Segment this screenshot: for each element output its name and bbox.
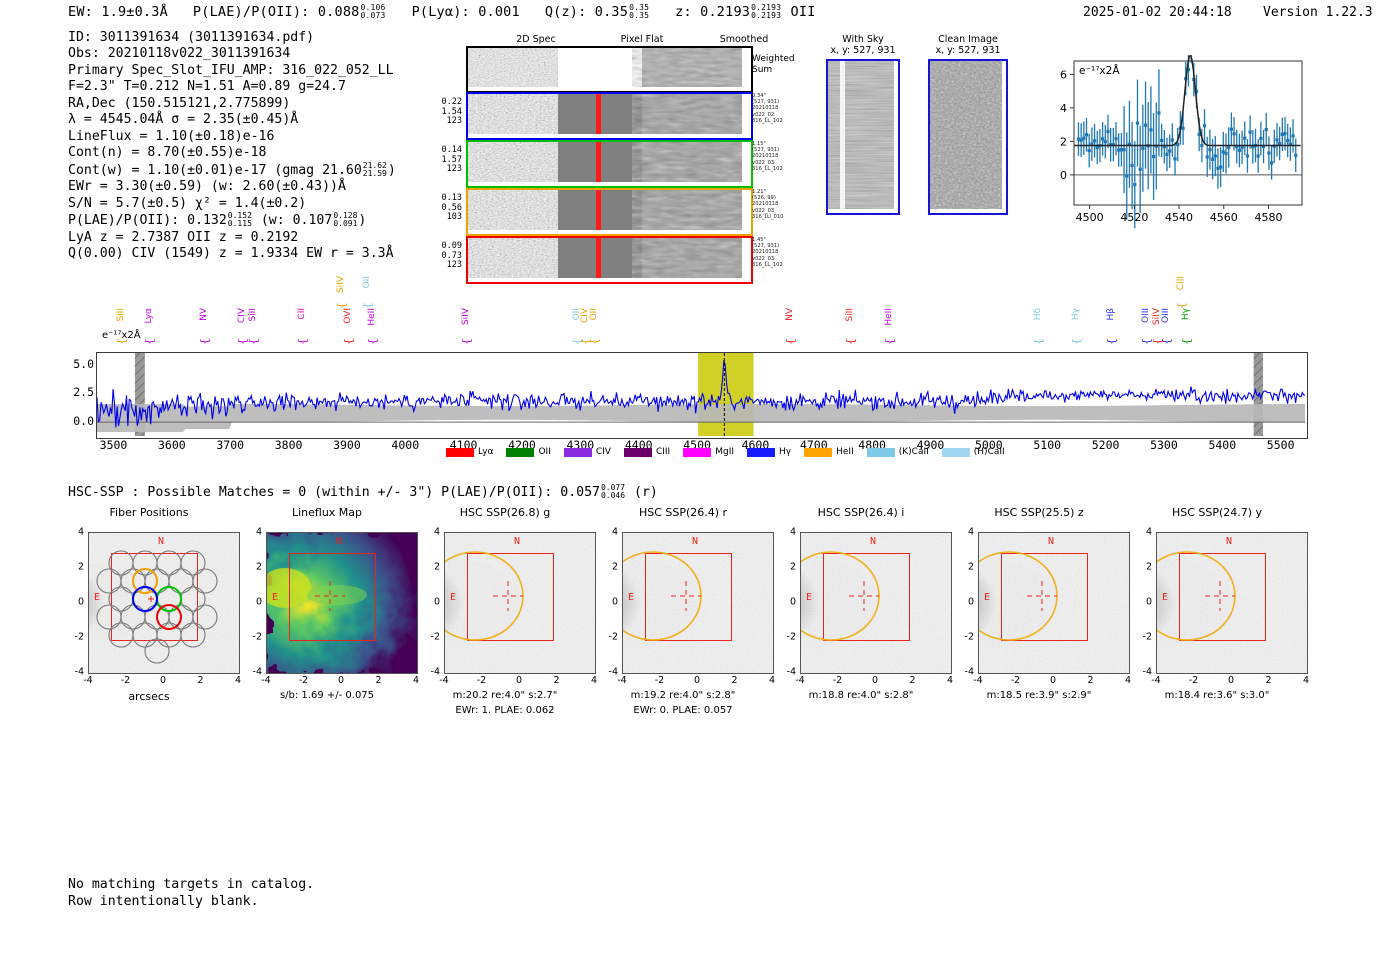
emission-line-brace: { — [588, 338, 601, 345]
timestamp: 2025-01-02 20:44:18 — [1083, 5, 1232, 20]
cutout-ytick: -4 — [958, 667, 974, 678]
svg-text:4500: 4500 — [1076, 211, 1104, 224]
plae-lo: 0.073 — [360, 12, 385, 20]
cutout-xtick: -2 — [299, 675, 308, 686]
compass-north: N — [158, 536, 164, 547]
cutout-xtick: -4 — [973, 675, 982, 686]
cutout-panel: HSC SSP(26.4) iNE-4-4-2-2002244m:18.8 re… — [772, 506, 972, 519]
cutout-xtick: -4 — [83, 675, 92, 686]
svg-text:0: 0 — [1060, 169, 1067, 182]
cutout-ytick: -4 — [246, 667, 262, 678]
z-value: 0.2193 — [700, 4, 750, 20]
cutout-title: HSC SSP(26.8) g — [416, 506, 594, 519]
cutout-xtick: 2 — [731, 675, 737, 686]
info-line-lambda: λ = 4545.04Å σ = 2.35(±0.45)Å — [68, 112, 396, 128]
info-line-id: ID: 3011391634 (3011391634.pdf) — [68, 30, 396, 46]
cutout-title: Fiber Positions — [60, 506, 238, 519]
source-ellipse — [445, 533, 595, 673]
cutout-xtick: 4 — [1303, 675, 1309, 686]
emission-line-label: HeII — [884, 308, 894, 326]
fiber-row-values: 0.221.54123 — [418, 98, 462, 127]
svg-text:4540: 4540 — [1165, 211, 1193, 224]
spectrum-unit-label: e⁻¹⁷x2Å — [102, 330, 141, 341]
cutout-ytick: 2 — [68, 562, 84, 573]
compass-north: N — [514, 536, 520, 547]
version: Version 1.22.3 — [1263, 5, 1373, 20]
line-plot-svg: 450045204540456045800246e⁻¹⁷x2Å — [1040, 55, 1308, 231]
emission-line-label: Hγ — [1181, 308, 1191, 320]
cutout-ytick: 0 — [246, 597, 262, 608]
qz-label: Q(z): — [545, 4, 587, 20]
legend-label: Lyα — [478, 447, 493, 457]
compass-east: E — [272, 592, 278, 603]
spectrum-xtick: 5200 — [1092, 438, 1120, 452]
legend-item: OII — [506, 447, 550, 457]
spectrum-ytick: 5.0 — [73, 357, 94, 371]
cutout-ytick: 0 — [958, 597, 974, 608]
footer-message: No matching targets in catalog. Row inte… — [68, 877, 314, 910]
plae-label: P(LAE)/P(OII): — [193, 4, 310, 20]
emission-line-brace: { — [883, 338, 896, 345]
compass-east: E — [806, 592, 812, 603]
legend-label: OII — [538, 447, 550, 457]
cutout-ytick: -4 — [1136, 667, 1152, 678]
cutout-xtick: -4 — [795, 675, 804, 686]
cutout-ytick: 0 — [602, 597, 618, 608]
cutout-ytick: -2 — [246, 632, 262, 643]
cutout-caption-1: m:18.8 re:4.0" s:2.8" — [772, 690, 950, 701]
cutout-ytick: 4 — [602, 527, 618, 538]
cutout-title: HSC SSP(25.5) z — [950, 506, 1128, 519]
cutout-xtick: -4 — [261, 675, 270, 686]
cutout-xtick: -4 — [617, 675, 626, 686]
info-line-lineflux: LineFlux = 1.10(±0.18)e-16 — [68, 129, 396, 145]
emission-line-brace: { — [1032, 338, 1045, 345]
svg-text:6: 6 — [1060, 68, 1067, 81]
info-line-contw: Cont(w) = 1.10(±0.01)e-17 (gmag 21.6021.… — [68, 162, 396, 180]
cutout-ytick: 2 — [1136, 562, 1152, 573]
emission-line-label: Hβ — [1106, 308, 1116, 321]
emission-line-label: OIII — [1141, 308, 1151, 323]
fiber-row-metadata: 1.21"(526, 99)20210118v022_03316_LU_010 — [752, 189, 812, 220]
info-line-contn: Cont(n) = 8.70(±0.55)e-18 — [68, 145, 396, 161]
hsc-filter-tail: (r) — [634, 485, 658, 500]
emission-line-label: SiIV — [461, 308, 471, 325]
emission-line-label: CIV — [237, 308, 247, 323]
cutout-ytick: 4 — [424, 527, 440, 538]
info-plae-lo: 0.115 — [228, 220, 252, 228]
cutout-ytick: 0 — [68, 597, 84, 608]
info-line-ewr: EWr = 3.30(±0.59) (w: 2.60(±0.43))Å — [68, 179, 396, 195]
cutout-xtick: 0 — [338, 675, 344, 686]
emission-line-label: OII — [362, 276, 372, 288]
spectrum-xtick: 4000 — [391, 438, 419, 452]
emission-line-label: OVI — [343, 308, 353, 324]
svg-text:4580: 4580 — [1254, 211, 1282, 224]
source-ellipse — [979, 533, 1129, 673]
cutout-ytick: 2 — [958, 562, 974, 573]
legend-item: CIII — [624, 447, 670, 457]
weighted-sum-image — [468, 48, 747, 87]
fiber-meta-line: 316_LL_102 — [752, 262, 812, 268]
cutout-caption-2: EWr: 0. PLAE: 0.057 — [594, 705, 772, 716]
cutout-ytick: 4 — [68, 527, 84, 538]
compass-east: E — [1162, 592, 1168, 603]
info-line-radec: RA,Dec (150.515121,2.775899) — [68, 96, 396, 112]
cutout-xtick: 4 — [769, 675, 775, 686]
spectrum-xtick: 3600 — [158, 438, 186, 452]
cutout-ytick: -2 — [780, 632, 796, 643]
fiber-circles — [89, 533, 239, 673]
svg-text:2: 2 — [1060, 135, 1067, 148]
info-plae-w-lo: 0.091 — [333, 220, 357, 228]
cutout-ytick: 2 — [780, 562, 796, 573]
cutout-image[interactable] — [1156, 532, 1308, 674]
emission-line-label: NV — [785, 308, 795, 321]
compass-north: N — [870, 536, 876, 547]
qz-value: 0.35 — [595, 4, 628, 20]
cutout-ytick: -2 — [602, 632, 618, 643]
legend-swatch — [624, 448, 652, 457]
hsc-summary-text: HSC-SSP : Possible Matches = 0 (within +… — [68, 485, 600, 500]
spectrum-xtick: 5500 — [1267, 438, 1295, 452]
legend-swatch — [683, 448, 711, 457]
emission-line-brace: { — [1180, 338, 1193, 345]
cutout-xtick: 0 — [1228, 675, 1234, 686]
header-summary-line: EW: 1.9±0.3Å P(LAE)/P(OII): 0.0880.1060.… — [68, 4, 816, 20]
cutout-ytick: 0 — [424, 597, 440, 608]
cutout-image[interactable] — [622, 532, 774, 674]
legend-label: (K)CaII — [899, 447, 929, 457]
cutout-xtick: -2 — [1011, 675, 1020, 686]
spectrum-xtick: 5300 — [1150, 438, 1178, 452]
cutout-xtick: 4 — [947, 675, 953, 686]
spectrum-xtick: 3900 — [333, 438, 361, 452]
emission-line-brace: { — [247, 338, 260, 345]
fiber-strip-image — [468, 190, 747, 230]
spec2d-title-smoothed: Smoothed — [694, 34, 794, 45]
footer-line-1: No matching targets in catalog. — [68, 877, 314, 894]
cutout-xlabel: arcsecs — [60, 690, 238, 703]
cutout-ytick: 2 — [602, 562, 618, 573]
full-spectrum-plot — [96, 352, 1308, 439]
plae-w-tail: ) — [358, 213, 366, 228]
emission-line-brace: { — [366, 338, 379, 345]
cutout-ytick: -2 — [68, 632, 84, 643]
cutout-xtick: -4 — [439, 675, 448, 686]
cutout-xtick: -2 — [121, 675, 130, 686]
info-line-civ: Q(0.00) CIV (1549) z = 1.9334 EW r = 3.3… — [68, 246, 396, 262]
legend-item: CIV — [564, 447, 611, 457]
cutout-xtick: -2 — [1189, 675, 1198, 686]
legend-swatch — [446, 448, 474, 457]
with-sky-coords: x, y: 527, 931 — [826, 45, 900, 56]
cutout-title: Lineflux Map — [238, 506, 416, 519]
cutout-xtick: 4 — [413, 675, 419, 686]
fiber-row-strip — [466, 188, 753, 236]
cutout-caption-1: m:18.4 re:3.6" s:3.0" — [1128, 690, 1306, 701]
info-line-plae: P(LAE)/P(OII): 0.1320.1520.115 (w: 0.107… — [68, 212, 396, 230]
fiber-row-metadata: 1.45"(527, 931)20210118v022_03316_LL_102 — [752, 237, 812, 268]
cutout-xtick: -2 — [655, 675, 664, 686]
cutout-caption-1: s/b: 1.69 +/- 0.075 — [238, 690, 416, 701]
fiber-row-values: 0.130.56103 — [418, 194, 462, 223]
info-line-obs: Obs: 20210118v022_3011391634 — [68, 46, 396, 62]
emission-line-brace: { — [1070, 338, 1083, 345]
cutout-image[interactable] — [444, 532, 596, 674]
emission-line-label: SiIV — [336, 276, 346, 293]
cutout-caption-2: EWr: 1. PLAE: 0.062 — [416, 705, 594, 716]
clean-image-coords: x, y: 527, 931 — [928, 45, 1008, 56]
legend-swatch — [867, 448, 895, 457]
fiber-meta-line: 316_LL_102 — [752, 166, 812, 172]
emission-line-brace: { — [844, 338, 857, 345]
spec2d-title-2dspec: 2D Spec — [486, 34, 586, 45]
svg-text:4: 4 — [1060, 102, 1067, 115]
legend-item: (K)CaII — [867, 447, 929, 457]
emission-line-brace: { — [1105, 338, 1118, 345]
spectrum-ytick: 0.0 — [73, 414, 94, 428]
plae-value: 0.088 — [318, 4, 360, 20]
cutout-panel: Lineflux MapNE-4-4-2-2002244s/b: 1.69 +/… — [238, 506, 438, 519]
fiber-strip-image — [468, 238, 747, 278]
legend-item: HeII — [804, 447, 854, 457]
spectrum-xtick: 3800 — [275, 438, 303, 452]
z-label: z: — [675, 4, 692, 20]
spectrum-xtick: 5400 — [1208, 438, 1236, 452]
header-timestamp-version: 2025-01-02 20:44:18 Version 1.22.3 — [1083, 5, 1373, 20]
info-line-sn: S/N = 5.7(±0.5) χ² = 1.4(±0.2) — [68, 196, 396, 212]
plya-label: P(Lyα): — [412, 4, 470, 20]
info-line-redshifts: LyA z = 2.7387 OII z = 0.2192 — [68, 230, 396, 246]
legend-label: MgII — [715, 447, 734, 457]
emission-line-label: OIII — [1161, 308, 1171, 323]
emission-line-label: Lyα — [144, 308, 154, 323]
emission-line-brace: { — [342, 338, 355, 345]
legend-item: MgII — [683, 447, 734, 457]
cutout-ytick: -2 — [424, 632, 440, 643]
legend-swatch — [747, 448, 775, 457]
fiber-row-strip — [466, 92, 753, 140]
cutout-ytick: 4 — [246, 527, 262, 538]
cutout-ytick: 4 — [1136, 527, 1152, 538]
emission-line-label: SiII — [845, 308, 855, 322]
cutout-panel: HSC SSP(24.7) yNE-4-4-2-2002244m:18.4 re… — [1128, 506, 1328, 519]
fiber-row-value: 123 — [418, 261, 462, 271]
cutout-xtick: 2 — [1265, 675, 1271, 686]
emission-line-label: CIII — [1176, 276, 1186, 290]
cutout-xtick: 0 — [516, 675, 522, 686]
weighted-sum-label: Weighted Sum — [752, 54, 795, 76]
z-lo: 0.2193 — [751, 12, 781, 20]
fiber-strip-image — [468, 142, 747, 182]
ew-value: 1.9±0.3Å — [101, 4, 168, 20]
emission-line-label: Hδ — [1033, 308, 1043, 320]
clean-image-bitmap — [928, 59, 1008, 215]
cutout-ytick: -2 — [958, 632, 974, 643]
lineflux-crosshair — [267, 533, 417, 673]
emission-line-brace: { — [784, 338, 797, 345]
cutout-ytick: 2 — [246, 562, 262, 573]
legend-swatch — [564, 448, 592, 457]
emission-line-label: CII — [297, 308, 307, 320]
emission-line-brace: { — [1160, 338, 1173, 345]
fiber-row-values: 0.141.57123 — [418, 146, 462, 175]
cutout-ytick: -4 — [424, 667, 440, 678]
spectrum-legend: LyαOIICIVCIIIMgIIHγHeII(K)CaII(H)CaII — [446, 447, 1005, 457]
compass-north: N — [336, 536, 342, 547]
cutout-xtick: 2 — [375, 675, 381, 686]
plya-value: 0.001 — [478, 4, 520, 20]
legend-item: Hγ — [747, 447, 791, 457]
z-line-id: OII — [791, 4, 816, 20]
info-line-primary-spec: Primary Spec_Slot_IFU_AMP: 316_022_052_L… — [68, 63, 396, 79]
svg-text:4520: 4520 — [1120, 211, 1148, 224]
cutout-xtick: 2 — [909, 675, 915, 686]
spectrum-xtick: 5100 — [1033, 438, 1061, 452]
legend-swatch — [506, 448, 534, 457]
spectrum-svg — [97, 353, 1305, 436]
emission-line-brace: { — [143, 338, 156, 345]
cutout-image[interactable] — [88, 532, 240, 674]
compass-north: N — [1226, 536, 1232, 547]
source-ellipse — [623, 533, 773, 673]
cutout-xtick: 4 — [591, 675, 597, 686]
gmag-tail: ) — [388, 163, 396, 178]
fiber-row-metadata: 1.15"(527, 931)20210118v022_03316_LL_102 — [752, 141, 812, 172]
weighted-sum-strip — [466, 46, 753, 93]
cutout-xtick: 4 — [235, 675, 241, 686]
clean-image-title: Clean Image — [928, 34, 1008, 45]
ew-label: EW: — [68, 4, 93, 20]
cutout-panel: HSC SSP(26.8) gNE-4-4-2-2002244m:20.2 re… — [416, 506, 616, 519]
cutout-ytick: 0 — [1136, 597, 1152, 608]
plae-w-label: (w: 0.107 — [261, 213, 332, 228]
cutout-caption-1: m:20.2 re:4.0" s:2.7" — [416, 690, 594, 701]
fiber-row-value: 103 — [418, 213, 462, 223]
cutout-title: HSC SSP(26.4) r — [594, 506, 772, 519]
with-sky-image — [826, 59, 900, 215]
source-info-block: ID: 3011391634 (3011391634.pdf) Obs: 202… — [68, 30, 396, 263]
cutout-caption-1: m:19.2 re:4.0" s:2.8" — [594, 690, 772, 701]
cutout-ytick: 4 — [958, 527, 974, 538]
cutout-ytick: -4 — [602, 667, 618, 678]
cutout-xtick: 2 — [197, 675, 203, 686]
fiber-meta-line: 316_LU_010 — [752, 214, 812, 220]
cutout-image[interactable] — [800, 532, 952, 674]
compass-north: N — [1048, 536, 1054, 547]
cutout-image[interactable] — [266, 532, 418, 674]
cutout-panel: HSC SSP(25.5) zNE-4-4-2-2002244m:18.5 re… — [950, 506, 1150, 519]
cutout-panel: Fiber PositionsNE-4-4-2-2002244arcsecs — [60, 506, 260, 519]
fiber-row-metadata: 0.34"(527, 931)20210118v022_02316_LL_102 — [752, 93, 812, 124]
with-sky-panel: With Sky x, y: 527, 931 — [826, 34, 900, 215]
cutout-title: HSC SSP(24.7) y — [1128, 506, 1306, 519]
hsc-lo: 0.046 — [601, 492, 625, 500]
compass-north: N — [692, 536, 698, 547]
fiber-meta-line: 316_LL_102 — [752, 118, 812, 124]
cutout-title: HSC SSP(26.4) i — [772, 506, 950, 519]
legend-swatch — [942, 448, 970, 457]
legend-item: Lyα — [446, 447, 493, 457]
cutout-xtick: -2 — [833, 675, 842, 686]
cutout-ytick: -4 — [68, 667, 84, 678]
legend-item: (H)CaII — [942, 447, 1005, 457]
cutout-xtick: 0 — [694, 675, 700, 686]
fiber-row-value: 123 — [418, 117, 462, 127]
legend-label: (H)CaII — [974, 447, 1005, 457]
fiber-strip-image — [468, 94, 747, 134]
cutout-xtick: 0 — [872, 675, 878, 686]
with-sky-title: With Sky — [826, 34, 900, 45]
cutout-ytick: 2 — [424, 562, 440, 573]
legend-label: Hγ — [779, 447, 791, 457]
source-ellipse — [801, 533, 951, 673]
emission-line-label: Hγ — [1071, 308, 1081, 320]
spectrum-ytick: 2.5 — [73, 385, 94, 399]
hsc-summary-line: HSC-SSP : Possible Matches = 0 (within +… — [68, 484, 658, 500]
emission-line-label: HeII — [367, 308, 377, 326]
fiber-row-value: 123 — [418, 165, 462, 175]
emission-line-brace: { — [460, 338, 473, 345]
cutout-xtick: 0 — [1050, 675, 1056, 686]
cutout-xtick: -4 — [1151, 675, 1160, 686]
source-ellipse — [1157, 533, 1307, 673]
qz-lo: 0.35 — [629, 12, 649, 20]
emission-line-label: SiII — [116, 308, 126, 322]
cutout-image[interactable] — [978, 532, 1130, 674]
legend-swatch — [804, 448, 832, 457]
contw-text: Cont(w) = 1.10(±0.01)e-17 (gmag 21.60 — [68, 163, 362, 178]
spectrum-line-labels: SiII{Lyα{NV{CIV{SiII{CII{SiIV{OVI{OII{He… — [0, 276, 1400, 352]
cutout-xtick: 2 — [1087, 675, 1093, 686]
emission-line-zoom-plot: 450045204540456045800246e⁻¹⁷x2Å — [1040, 55, 1308, 231]
cutout-xtick: 4 — [1125, 675, 1131, 686]
compass-east: E — [628, 592, 634, 603]
spectrum-xtick: 3500 — [100, 438, 128, 452]
fiber-row-values: 0.090.73123 — [418, 242, 462, 271]
emission-line-label: NV — [199, 308, 209, 321]
cutout-ytick: 4 — [780, 527, 796, 538]
clean-image-panel: Clean Image x, y: 527, 931 — [928, 34, 1008, 215]
cutout-panel: HSC SSP(26.4) rNE-4-4-2-2002244m:19.2 re… — [594, 506, 794, 519]
spec2d-title-pixelflat: Pixel Flat — [592, 34, 692, 45]
cutout-xtick: 0 — [160, 675, 166, 686]
svg-text:4560: 4560 — [1210, 211, 1238, 224]
cutout-ytick: 0 — [780, 597, 796, 608]
gmag-lo: 21.59 — [363, 170, 387, 178]
cutout-xtick: -2 — [477, 675, 486, 686]
info-line-seeing: F=2.3" T=0.212 N=1.51 A=0.89 g=24.7 — [68, 79, 396, 95]
emission-line-brace: { — [198, 338, 211, 345]
compass-east: E — [94, 592, 100, 603]
cutout-caption-1: m:18.5 re:3.9" s:2.9" — [950, 690, 1128, 701]
cutout-ytick: -2 — [1136, 632, 1152, 643]
emission-line-brace: { — [296, 338, 309, 345]
compass-east: E — [450, 592, 456, 603]
spectrum-xtick: 3700 — [216, 438, 244, 452]
compass-east: E — [984, 592, 990, 603]
fiber-row-strip — [466, 140, 753, 188]
footer-line-2: Row intentionally blank. — [68, 894, 314, 911]
emission-line-label: SiII — [248, 308, 258, 322]
cutout-xtick: 2 — [553, 675, 559, 686]
cutout-ytick: -4 — [780, 667, 796, 678]
svg-text:e⁻¹⁷x2Å: e⁻¹⁷x2Å — [1079, 64, 1120, 77]
spectrum-y-axis: 0.02.55.0 — [60, 352, 94, 437]
legend-label: HeII — [836, 447, 854, 457]
legend-label: CIII — [656, 447, 670, 457]
